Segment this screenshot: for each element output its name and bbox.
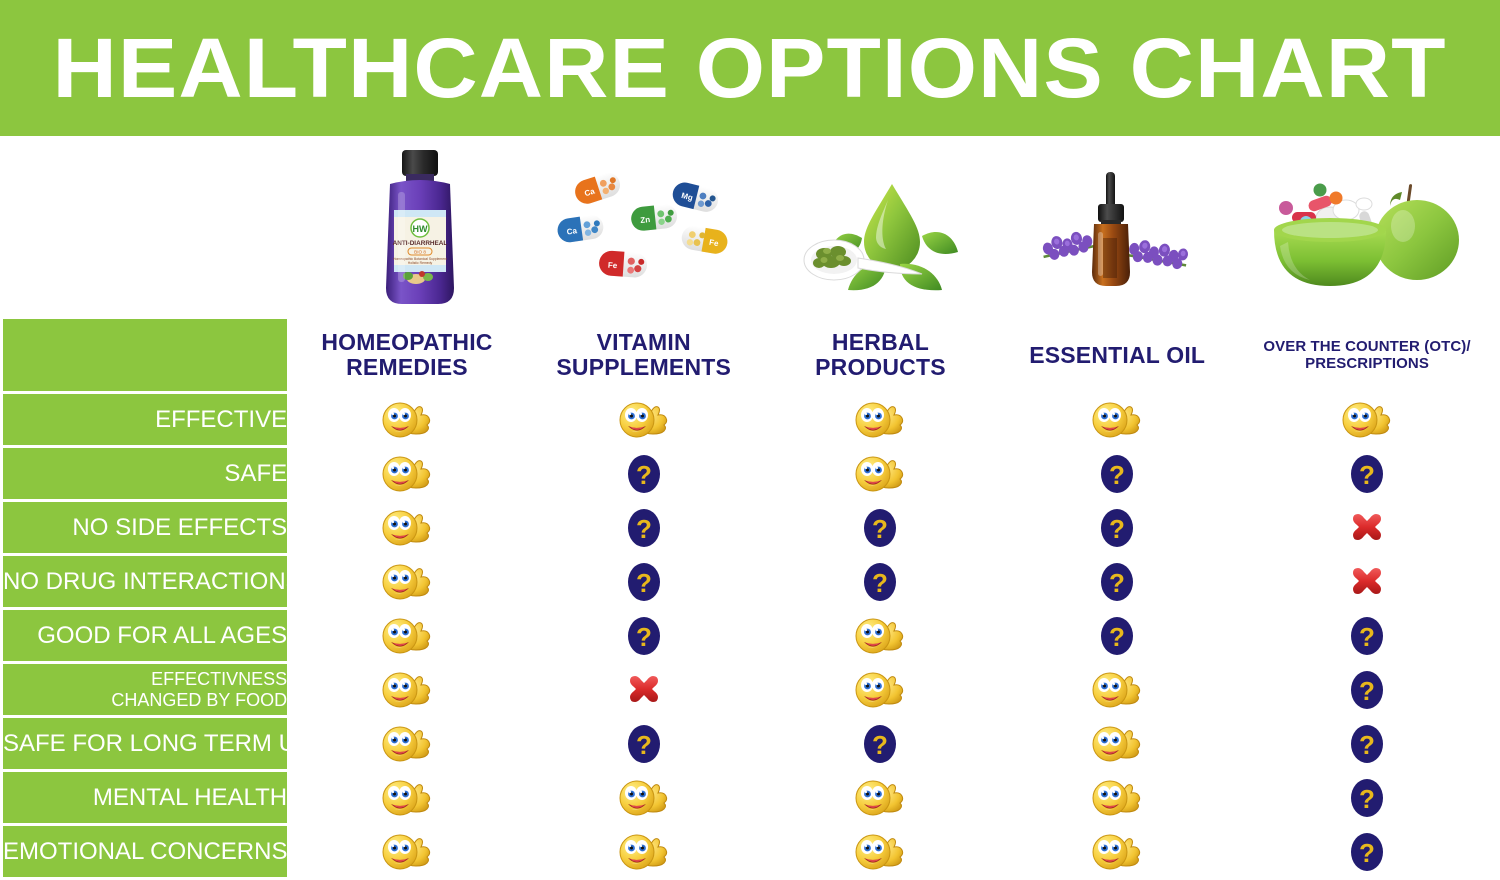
cell-5-0: [290, 664, 524, 715]
smiley-thumbsup-icon: [854, 400, 906, 440]
title-banner: HEALTHCARE OPTIONS CHART: [0, 0, 1500, 136]
smiley-thumbsup-icon: [854, 778, 906, 818]
smiley-thumbsup-icon: [1091, 778, 1143, 818]
x-mark-icon: [1349, 510, 1385, 546]
cell-7-2: [764, 772, 998, 823]
row-label-safe: SAFE: [3, 448, 287, 499]
column-header-line: OVER THE COUNTER (OTC)/: [1237, 338, 1497, 355]
cell-1-3: ?: [1000, 448, 1234, 499]
cell-2-2: ?: [764, 502, 998, 553]
row-label-line: SAFE: [3, 461, 287, 486]
svg-text:?: ?: [1109, 622, 1125, 652]
table-row: EFFECTIVE: [3, 394, 1497, 445]
herbal-products-image: [800, 166, 980, 294]
row-label-mental-health: MENTAL HEALTH: [3, 772, 287, 823]
question-mark-icon: ?: [627, 724, 661, 764]
cell-7-3: [1000, 772, 1234, 823]
svg-text:?: ?: [872, 568, 888, 598]
column-header-line: PRODUCTS: [764, 355, 998, 380]
svg-text:?: ?: [872, 514, 888, 544]
otc-pills-image: [1272, 168, 1464, 294]
question-mark-icon: ?: [627, 616, 661, 656]
cell-1-0: [290, 448, 524, 499]
question-mark-icon: ?: [1350, 832, 1384, 872]
row-label-no-drug-interactions: NO DRUG INTERACTIONS: [3, 556, 287, 607]
svg-text:?: ?: [1359, 730, 1375, 760]
cell-7-4: ?: [1237, 772, 1497, 823]
smiley-thumbsup-icon: [854, 670, 906, 710]
row-label-effectivness-changed-by-food: EFFECTIVNESSCHANGED BY FOOD: [3, 664, 287, 715]
svg-text:?: ?: [1359, 784, 1375, 814]
smiley-thumbsup-icon: [618, 832, 670, 872]
svg-text:BIO 8: BIO 8: [414, 250, 426, 255]
svg-text:?: ?: [636, 730, 652, 760]
cell-6-1: ?: [527, 718, 761, 769]
svg-text:?: ?: [636, 514, 652, 544]
row-label-emotional-concerns: EMOTIONAL CONCERNS: [3, 826, 287, 877]
table-row: MENTAL HEALTH?: [3, 772, 1497, 823]
row-label-line: MENTAL HEALTH: [3, 785, 287, 810]
smiley-thumbsup-icon: [1341, 400, 1393, 440]
cell-1-2: [764, 448, 998, 499]
smiley-thumbsup-icon: [381, 832, 433, 872]
smiley-thumbsup-icon: [381, 724, 433, 764]
question-mark-icon: ?: [1350, 616, 1384, 656]
cell-6-4: ?: [1237, 718, 1497, 769]
column-header-line: REMEDIES: [290, 355, 524, 380]
svg-text:?: ?: [636, 460, 652, 490]
row-label-line: NO SIDE EFFECTS: [3, 515, 287, 540]
question-mark-icon: ?: [627, 508, 661, 548]
row-label-line: NO DRUG INTERACTIONS: [3, 569, 287, 594]
smiley-thumbsup-icon: [1091, 400, 1143, 440]
column-header-herbal-products: HERBAL PRODUCTS: [764, 319, 998, 391]
cell-3-1: ?: [527, 556, 761, 607]
cell-3-0: [290, 556, 524, 607]
row-label-line: SAFE FOR LONG TERM USE: [3, 731, 287, 756]
smiley-thumbsup-icon: [381, 508, 433, 548]
healthcare-options-table: HOMEOPATHIC REMEDIES VITAMIN SUPPLEMENTS…: [0, 316, 1500, 880]
cell-4-3: ?: [1000, 610, 1234, 661]
essential-oil-image: [1030, 168, 1200, 294]
smiley-thumbsup-icon: [1091, 832, 1143, 872]
cell-1-1: ?: [527, 448, 761, 499]
cell-2-0: [290, 502, 524, 553]
question-mark-icon: ?: [863, 562, 897, 602]
smiley-thumbsup-icon: [854, 832, 906, 872]
homeopathic-bottle-image: HW ANTI-DIARRHEAL BIO 8 Homeopathic Bota…: [372, 148, 468, 306]
svg-text:?: ?: [1359, 622, 1375, 652]
svg-text:Fe: Fe: [608, 261, 618, 271]
cell-8-0: [290, 826, 524, 877]
row-label-effective: EFFECTIVE: [3, 394, 287, 445]
table-row: EMOTIONAL CONCERNS?: [3, 826, 1497, 877]
table-row: SAFE FOR LONG TERM USE???: [3, 718, 1497, 769]
smiley-thumbsup-icon: [381, 400, 433, 440]
cell-4-1: ?: [527, 610, 761, 661]
table-row: NO SIDE EFFECTS???: [3, 502, 1497, 553]
cell-8-4: ?: [1237, 826, 1497, 877]
table-row: NO DRUG INTERACTIONS???: [3, 556, 1497, 607]
table-row: GOOD FOR ALL AGES???: [3, 610, 1497, 661]
svg-text:HW: HW: [413, 224, 428, 234]
cell-3-2: ?: [764, 556, 998, 607]
row-label-good-for-all-ages: GOOD FOR ALL AGES: [3, 610, 287, 661]
row-label-safe-for-long-term-use: SAFE FOR LONG TERM USE: [3, 718, 287, 769]
svg-text:?: ?: [872, 730, 888, 760]
x-mark-icon: [626, 672, 662, 708]
svg-text:Ca: Ca: [566, 226, 578, 236]
cell-2-4: [1237, 502, 1497, 553]
column-header-homeopathic-remedies: HOMEOPATHIC REMEDIES: [290, 319, 524, 391]
cell-4-0: [290, 610, 524, 661]
column-header-line: ESSENTIAL OIL: [1000, 343, 1234, 368]
cell-6-2: ?: [764, 718, 998, 769]
svg-text:?: ?: [1359, 838, 1375, 868]
column-header-line: HOMEOPATHIC: [290, 330, 524, 355]
x-mark-icon: [1349, 564, 1385, 600]
smiley-thumbsup-icon: [618, 778, 670, 818]
question-mark-icon: ?: [1100, 508, 1134, 548]
cell-8-2: [764, 826, 998, 877]
svg-text:?: ?: [1109, 460, 1125, 490]
svg-text:?: ?: [1359, 676, 1375, 706]
question-mark-icon: ?: [1350, 670, 1384, 710]
row-label-line: EFFECTIVE: [3, 407, 287, 432]
question-mark-icon: ?: [863, 724, 897, 764]
cell-2-3: ?: [1000, 502, 1234, 553]
column-header-line: HERBAL: [764, 330, 998, 355]
table-body: EFFECTIVESAFE???NO SIDE EFFECTS???NO DRU…: [3, 394, 1497, 877]
question-mark-icon: ?: [1100, 616, 1134, 656]
smiley-thumbsup-icon: [1091, 724, 1143, 764]
column-header-essential-oil: ESSENTIAL OIL: [1000, 319, 1234, 391]
cell-1-4: ?: [1237, 448, 1497, 499]
cell-8-1: [527, 826, 761, 877]
cell-0-0: [290, 394, 524, 445]
cell-7-1: [527, 772, 761, 823]
cell-4-4: ?: [1237, 610, 1497, 661]
cell-2-1: ?: [527, 502, 761, 553]
svg-text:Zn: Zn: [640, 215, 651, 225]
smiley-thumbsup-icon: [854, 454, 906, 494]
svg-text:?: ?: [1109, 568, 1125, 598]
smiley-thumbsup-icon: [381, 616, 433, 656]
smiley-thumbsup-icon: [854, 616, 906, 656]
column-header-line: SUPPLEMENTS: [527, 355, 761, 380]
cell-7-0: [290, 772, 524, 823]
cell-0-1: [527, 394, 761, 445]
cell-0-2: [764, 394, 998, 445]
question-mark-icon: ?: [1350, 454, 1384, 494]
question-mark-icon: ?: [1100, 562, 1134, 602]
cell-0-3: [1000, 394, 1234, 445]
vitamin-capsules-image: Ca Mg Ca: [548, 170, 760, 294]
row-label-line: EMOTIONAL CONCERNS: [3, 839, 287, 864]
row-label-no-side-effects: NO SIDE EFFECTS: [3, 502, 287, 553]
question-mark-icon: ?: [627, 454, 661, 494]
question-mark-icon: ?: [1100, 454, 1134, 494]
column-header-vitamin-supplements: VITAMIN SUPPLEMENTS: [527, 319, 761, 391]
cell-4-2: [764, 610, 998, 661]
svg-text:?: ?: [636, 568, 652, 598]
column-header-line: PRESCRIPTIONS: [1237, 355, 1497, 372]
question-mark-icon: ?: [1350, 778, 1384, 818]
table-row: SAFE???: [3, 448, 1497, 499]
question-mark-icon: ?: [1350, 724, 1384, 764]
cell-5-4: ?: [1237, 664, 1497, 715]
smiley-thumbsup-icon: [618, 400, 670, 440]
row-label-line: EFFECTIVNESS: [3, 669, 287, 690]
cell-3-4: [1237, 556, 1497, 607]
cell-0-4: [1237, 394, 1497, 445]
cell-3-3: ?: [1000, 556, 1234, 607]
svg-text:Holistic Remedy: Holistic Remedy: [408, 261, 433, 265]
header-corner-cell: [3, 319, 287, 391]
question-mark-icon: ?: [627, 562, 661, 602]
cell-5-2: [764, 664, 998, 715]
column-header-line: VITAMIN: [527, 330, 761, 355]
cell-5-1: [527, 664, 761, 715]
table-row: EFFECTIVNESSCHANGED BY FOOD?: [3, 664, 1497, 715]
table-header-row: HOMEOPATHIC REMEDIES VITAMIN SUPPLEMENTS…: [3, 319, 1497, 391]
svg-text:?: ?: [1359, 460, 1375, 490]
row-label-line: CHANGED BY FOOD: [3, 690, 287, 711]
smiley-thumbsup-icon: [381, 454, 433, 494]
smiley-thumbsup-icon: [381, 778, 433, 818]
svg-text:?: ?: [636, 622, 652, 652]
column-header-otc-prescriptions: OVER THE COUNTER (OTC)/ PRESCRIPTIONS: [1237, 319, 1497, 391]
smiley-thumbsup-icon: [381, 562, 433, 602]
question-mark-icon: ?: [863, 508, 897, 548]
smiley-thumbsup-icon: [1091, 670, 1143, 710]
product-image-strip: HW ANTI-DIARRHEAL BIO 8 Homeopathic Bota…: [0, 136, 1500, 316]
cell-5-3: [1000, 664, 1234, 715]
smiley-thumbsup-icon: [381, 670, 433, 710]
cell-8-3: [1000, 826, 1234, 877]
svg-text:?: ?: [1109, 514, 1125, 544]
cell-6-3: [1000, 718, 1234, 769]
page-title: HEALTHCARE OPTIONS CHART: [53, 26, 1447, 110]
row-label-line: GOOD FOR ALL AGES: [3, 623, 287, 648]
